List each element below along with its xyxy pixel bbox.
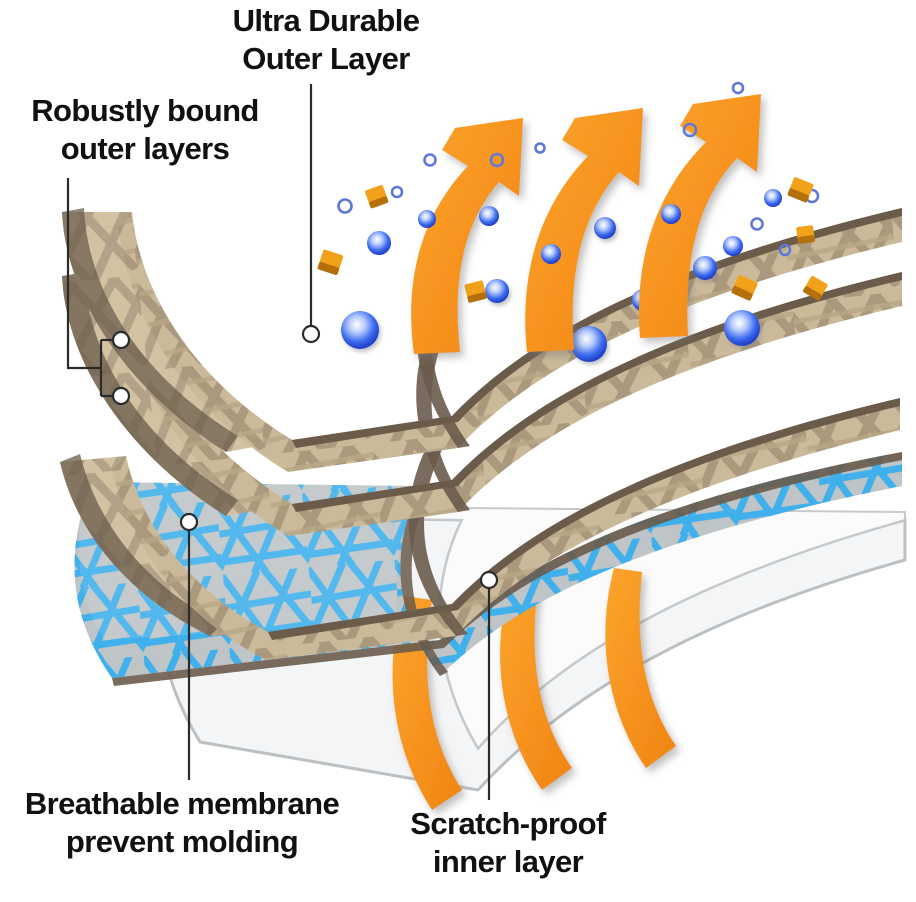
leader-endpoint-scratch-proof bbox=[481, 572, 497, 588]
leader-endpoint-outer-layer bbox=[303, 326, 319, 342]
leader-endpoint-bound-top bbox=[113, 332, 129, 348]
diagram-canvas: Ultra Durable Outer Layer Robustly bound… bbox=[0, 0, 916, 902]
label-robustly-bound-outer-layers: Robustly bound outer layers bbox=[0, 92, 290, 168]
label-breathable-membrane: Breathable membrane prevent molding bbox=[2, 785, 362, 861]
label-scratch-proof-inner-layer: Scratch-proof inner layer bbox=[358, 805, 658, 881]
leader-endpoint-bound-bottom bbox=[113, 388, 129, 404]
leader-endpoint-membrane bbox=[181, 514, 197, 530]
label-ultra-durable-outer-layer: Ultra Durable Outer Layer bbox=[176, 2, 476, 78]
